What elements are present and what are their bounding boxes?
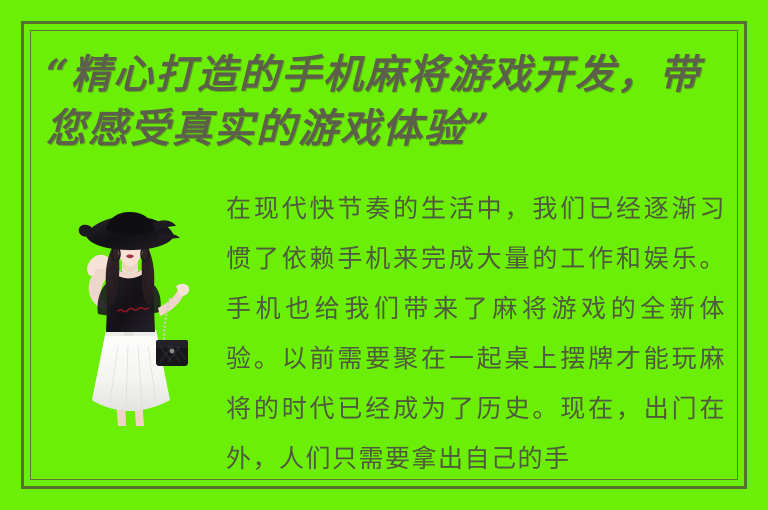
wide-brim-hat [79,212,180,250]
extended-arm [158,284,189,316]
body-paragraph: 在现代快节奏的生活中，我们已经逐渐习惯了依赖手机来完成大量的工作和娱乐。手机也给… [226,184,726,484]
page-title: “精心打造的手机麻将游戏开发，带您感受真实的游戏体验” [46,48,736,156]
model-photo [60,212,200,444]
poster-canvas: “精心打造的手机麻将游戏开发，带您感受真实的游戏体验” [0,0,768,510]
